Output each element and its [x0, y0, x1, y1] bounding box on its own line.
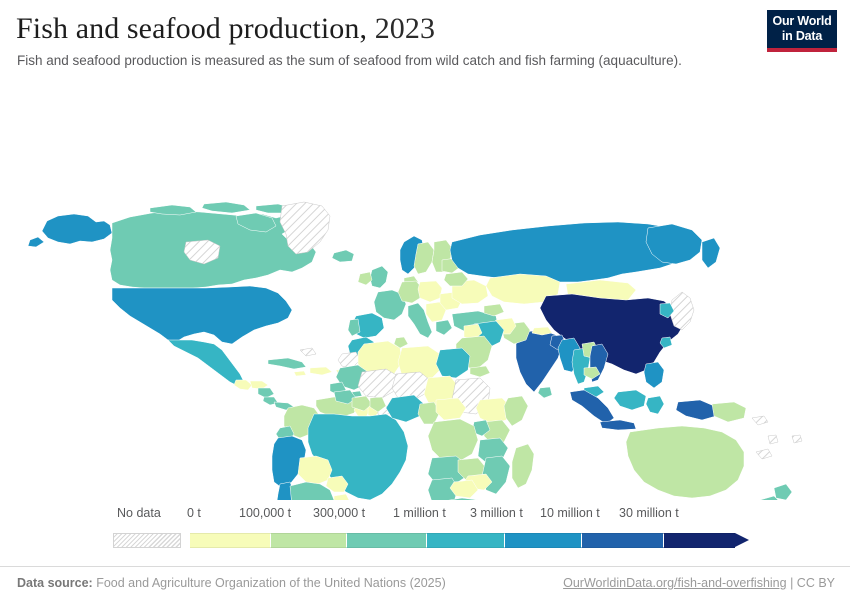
map-country-uk[interactable]: uk — [370, 266, 388, 288]
legend-tick-5: 10 million t — [540, 505, 600, 521]
title-main: Fish and seafood production, — [16, 12, 367, 45]
legend-tick-labels: No data 0 t100,000 t300,000 t1 million t… — [0, 505, 850, 523]
world-map[interactable]: alaskacanadacanada-arctic-1canada-arctic… — [0, 92, 850, 500]
legend-scale-strip[interactable] — [190, 533, 735, 548]
owid-license: | CC BY — [790, 576, 835, 590]
map-country-nepal[interactable]: nepal — [532, 327, 552, 335]
map-country-usa[interactable]: usa — [112, 286, 292, 344]
map-country-germany[interactable]: germany — [398, 281, 422, 303]
data-source: Data source: Food and Agriculture Organi… — [17, 575, 446, 591]
map-country-egypt[interactable]: egypt — [436, 348, 470, 378]
map-country-mali[interactable]: mali — [358, 369, 398, 398]
legend-bin-4[interactable] — [504, 533, 581, 548]
map-country-iceland[interactable]: iceland — [332, 250, 354, 262]
map-country-vanuatu[interactable]: vanuatu — [768, 435, 778, 444]
map-country-malaysia-borneo[interactable]: malaysia-borneo — [614, 390, 646, 410]
legend-tick-1: 100,000 t — [239, 505, 291, 521]
legend-bin-1[interactable] — [270, 533, 346, 548]
chart-footer: Data source: Food and Agriculture Organi… — [0, 566, 850, 600]
map-country-guatemala[interactable]: guatemala — [234, 380, 252, 390]
map-country-canada-arctic-2[interactable]: canada-arctic-2 — [202, 202, 250, 213]
map-country-somalia[interactable]: somalia — [504, 396, 528, 426]
legend-tick-2: 300,000 t — [313, 505, 365, 521]
map-legend: No data 0 t100,000 t300,000 t1 million t… — [0, 505, 850, 560]
map-country-jamaica[interactable]: jamaica — [294, 371, 306, 376]
world-map-svg[interactable]: alaskacanadacanada-arctic-1canada-arctic… — [0, 92, 850, 500]
map-country-new-caledonia[interactable]: new-caledonia — [756, 449, 772, 459]
legend-label-no-data: No data — [117, 505, 161, 521]
map-country-bahamas[interactable]: bahamas — [300, 348, 316, 356]
map-country-uruguay[interactable]: uruguay — [334, 494, 350, 500]
map-country-indonesia-java[interactable]: indonesia-java — [600, 420, 636, 430]
legend-swatch-no-data[interactable] — [113, 533, 181, 548]
logo-line-1: Our World — [767, 14, 837, 29]
map-country-poland[interactable]: poland — [418, 281, 442, 302]
legend-tick-6: 30 million t — [619, 505, 679, 521]
map-country-madagascar[interactable]: madagascar — [512, 444, 534, 488]
legend-tick-3: 1 million t — [393, 505, 446, 521]
logo-line-2: in Data — [767, 29, 837, 44]
legend-scale-arrow — [735, 533, 749, 547]
map-country-drc[interactable]: drc — [428, 419, 478, 462]
map-country-philippines[interactable]: philippines — [644, 362, 664, 388]
owid-map-chart: Fish and seafood production, 2023 Fish a… — [0, 0, 850, 600]
map-country-kamchatka[interactable]: kamchatka — [702, 238, 720, 268]
owid-url[interactable]: OurWorldinData.org/fish-and-overfishing — [563, 576, 786, 590]
data-source-name: Food and Agriculture Organization of the… — [96, 576, 446, 590]
map-country-yemen[interactable]: yemen — [470, 366, 490, 377]
data-source-prefix: Data source: — [17, 576, 93, 590]
legend-tick-0: 0 t — [187, 505, 201, 521]
map-country-png[interactable]: png — [712, 402, 746, 422]
legend-color-bar — [0, 531, 850, 551]
chart-subtitle: Fish and seafood production is measured … — [17, 52, 682, 69]
map-country-indonesia-sulawesi[interactable]: indonesia-sulawesi — [646, 396, 664, 414]
owid-logo[interactable]: Our World in Data — [767, 10, 837, 52]
map-country-greece[interactable]: greece — [436, 320, 452, 335]
map-country-australia[interactable]: australia — [626, 426, 744, 498]
map-country-indonesia-papua[interactable]: indonesia-papua — [676, 400, 716, 420]
map-country-ireland[interactable]: ireland — [358, 272, 372, 285]
legend-tick-4: 3 million t — [470, 505, 523, 521]
map-country-new-zealand-n[interactable]: new-zealand-n — [774, 484, 792, 500]
map-country-nicaragua[interactable]: nicaragua — [258, 388, 274, 398]
legend-bin-3[interactable] — [426, 533, 504, 548]
owid-link[interactable]: OurWorldinData.org/fish-and-overfishing … — [563, 575, 835, 591]
map-country-alaska[interactable]: alaska — [28, 214, 112, 247]
map-country-indonesia-sumatra[interactable]: indonesia-sumatra — [570, 390, 614, 424]
legend-bin-2[interactable] — [346, 533, 426, 548]
legend-bin-6[interactable] — [663, 533, 735, 548]
map-country-fiji[interactable]: fiji — [792, 435, 802, 443]
map-country-mexico[interactable]: mexico — [168, 340, 244, 386]
map-country-bolivia[interactable]: bolivia — [298, 456, 332, 484]
map-country-srilanka[interactable]: srilanka — [538, 387, 552, 398]
map-country-hispaniola[interactable]: hispaniola — [310, 367, 332, 375]
map-country-cuba[interactable]: cuba — [268, 358, 306, 369]
legend-bin-5[interactable] — [581, 533, 663, 548]
page-title: Fish and seafood production, 2023 — [16, 12, 435, 46]
legend-bin-0[interactable] — [190, 533, 270, 548]
map-country-nigeria[interactable]: nigeria — [386, 395, 424, 422]
title-year: 2023 — [375, 12, 435, 45]
map-country-solomon[interactable]: solomon — [752, 416, 768, 425]
